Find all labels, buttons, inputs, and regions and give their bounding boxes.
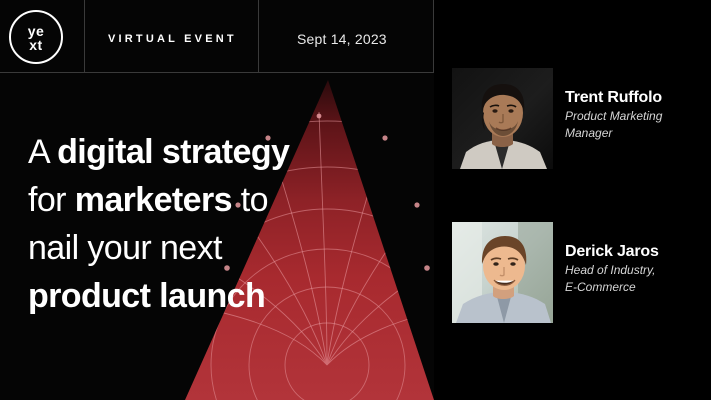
speaker-info-1: Derick Jaros Head of Industry, E-Commerc… <box>565 222 659 295</box>
yext-logo-bottom-text: xt <box>11 38 61 52</box>
headline-emphasis: digital strategy <box>57 133 289 171</box>
headline-line-3: product launch <box>28 272 428 320</box>
headline-text: to <box>232 181 268 219</box>
speaker-photo-trent-ruffolo <box>452 68 553 169</box>
headline-text: for <box>28 181 75 219</box>
speaker-card-0: Trent Ruffolo Product Marketing Manager <box>434 68 711 169</box>
headline-text: A <box>28 133 57 171</box>
speaker-name: Trent Ruffolo <box>565 88 662 107</box>
headline-text: nail your next <box>28 229 222 267</box>
header-divider-2 <box>258 0 259 73</box>
event-type-label: VIRTUAL EVENT <box>108 33 237 45</box>
speaker-title-line-1: Head of Industry, <box>565 263 659 278</box>
yext-logo-top-text: ye <box>11 24 61 38</box>
header-divider-1 <box>84 0 85 73</box>
speaker-title-line-1: Product Marketing <box>565 109 662 124</box>
yext-logo-circle: ye xt <box>9 10 63 64</box>
header-bottom-divider <box>0 72 434 73</box>
headline-line-2: nail your next <box>28 224 428 272</box>
speaker-info-0: Trent Ruffolo Product Marketing Manager <box>565 68 662 141</box>
event-date-label: Sept 14, 2023 <box>297 31 387 47</box>
speaker-card-1: Derick Jaros Head of Industry, E-Commerc… <box>434 222 711 323</box>
headline-line-0: A digital strategy <box>28 128 428 176</box>
header-bar: ye xt VIRTUAL EVENT Sept 14, 2023 <box>0 0 434 73</box>
event-slide: ye xt VIRTUAL EVENT Sept 14, 2023 A digi… <box>0 0 711 400</box>
speaker-photo-derick-jaros <box>452 222 553 323</box>
speaker-title-line-2: E-Commerce <box>565 280 659 295</box>
speaker-title-line-2: Manager <box>565 126 662 141</box>
speaker-name: Derick Jaros <box>565 242 659 261</box>
page-title: A digital strategyfor marketers tonail y… <box>28 128 428 320</box>
speaker-list: Trent Ruffolo Product Marketing Manager <box>434 0 711 400</box>
headline-line-1: for marketers to <box>28 176 428 224</box>
headline-emphasis: marketers <box>75 181 232 219</box>
yext-logo: ye xt <box>9 10 63 64</box>
headline-emphasis: product launch <box>28 277 265 315</box>
